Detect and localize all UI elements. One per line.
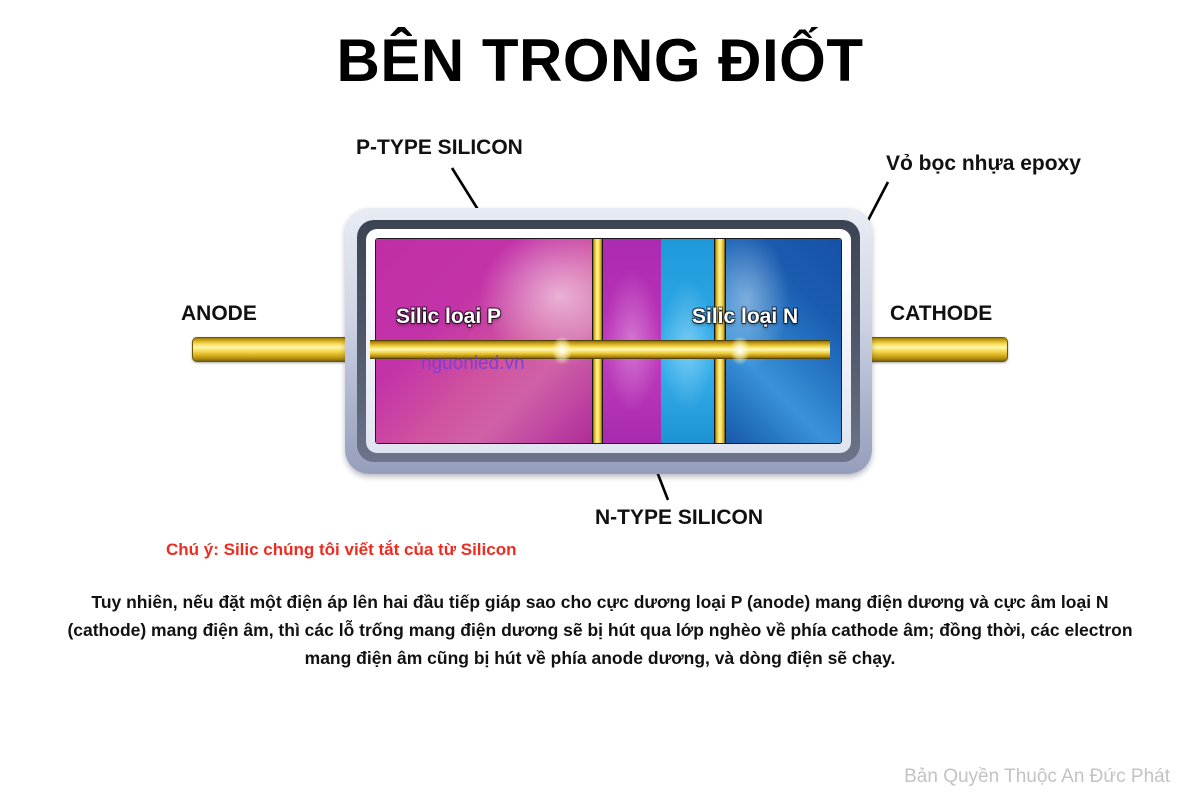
callout-p-type: P-TYPE SILICON [356, 136, 523, 160]
callout-anode: ANODE [181, 302, 257, 326]
die-label-p: Silic loại P [396, 305, 501, 329]
page-title: BÊN TRONG ĐIỐT [0, 26, 1200, 95]
explanation-paragraph: Tuy nhiên, nếu đặt một điện áp lên hai đ… [60, 588, 1140, 672]
watermark: nguonled.vn [421, 353, 525, 375]
note-abbreviation: Chú ý: Silic chúng tôi viết tắt của từ S… [166, 540, 516, 560]
callout-n-type: N-TYPE SILICON [595, 506, 763, 530]
copyright-footer: Bản Quyền Thuộc An Đức Phát [0, 766, 1170, 788]
callout-cathode: CATHODE [890, 302, 992, 326]
diode-diagram-figure: BÊN TRONG ĐIỐT P-TYPE SILICON Vỏ bọc nhự… [0, 0, 1200, 800]
die-label-n: Silic loại N [692, 305, 798, 329]
callout-epoxy: Vỏ bọc nhựa epoxy [886, 152, 1081, 176]
